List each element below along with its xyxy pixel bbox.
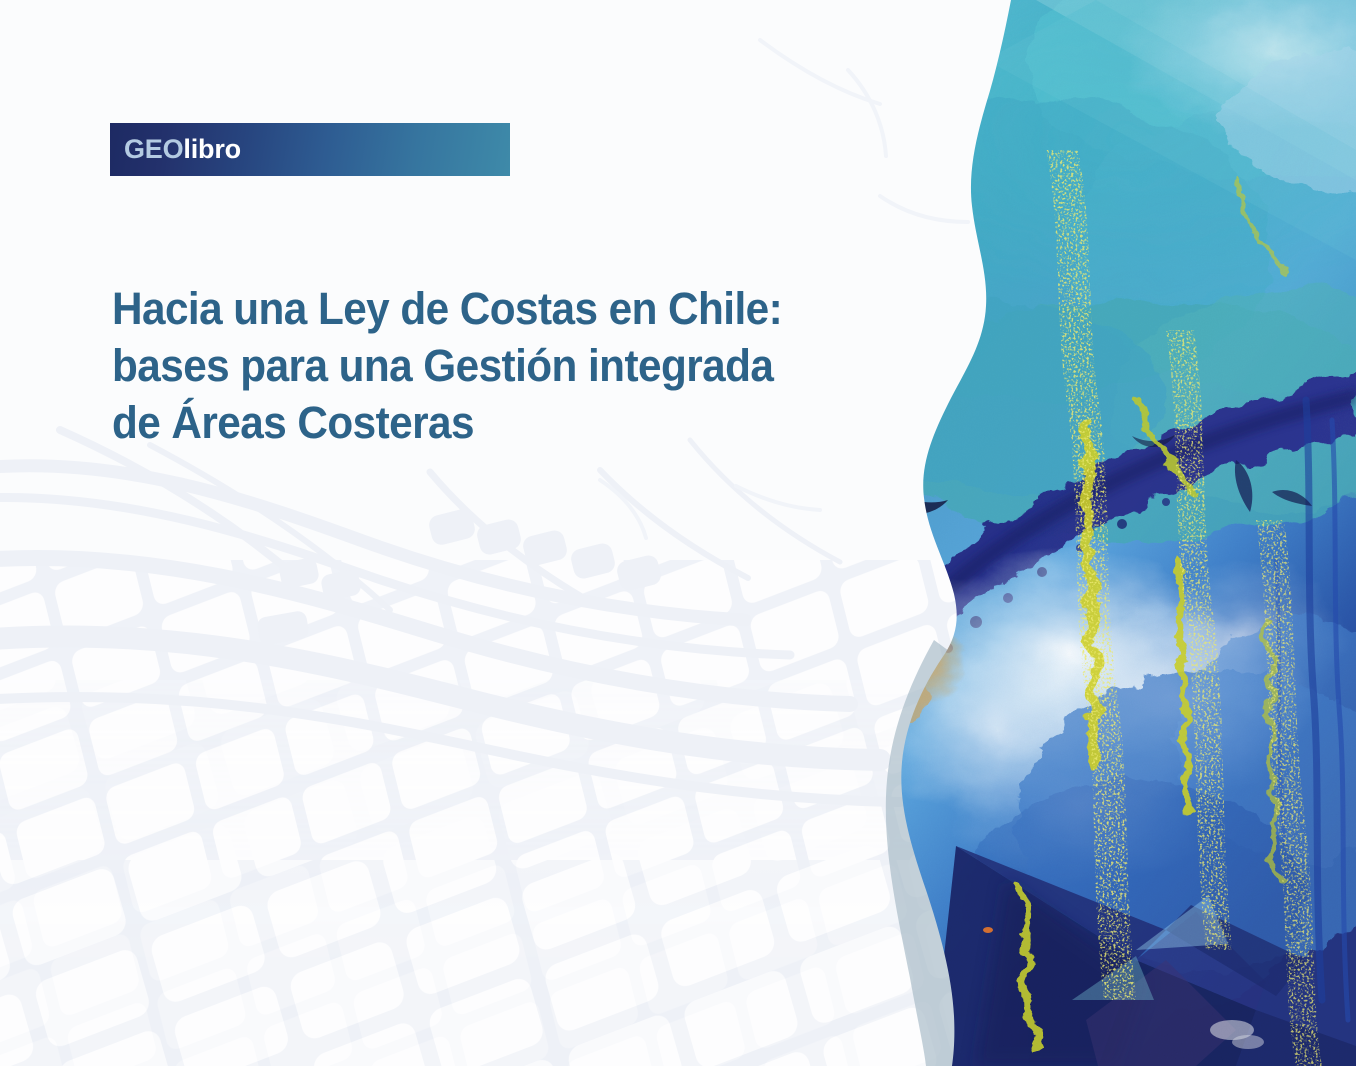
page-title: Hacia una Ley de Costas en Chile: bases … — [112, 280, 798, 451]
title-line-3: de Áreas Costeras — [112, 394, 798, 451]
brand-suffix: libro — [183, 134, 241, 164]
title-line-2: bases para una Gestión integrada — [112, 337, 798, 394]
geolibro-banner: GEOlibro — [110, 123, 510, 176]
book-cover: GEOlibro Hacia una Ley de Costas en Chil… — [0, 0, 1356, 1066]
brand-wordmark: GEOlibro — [124, 136, 241, 163]
artwork-panel — [836, 0, 1356, 1066]
title-line-1: Hacia una Ley de Costas en Chile: — [112, 280, 798, 337]
brand-prefix: GEO — [124, 134, 183, 164]
